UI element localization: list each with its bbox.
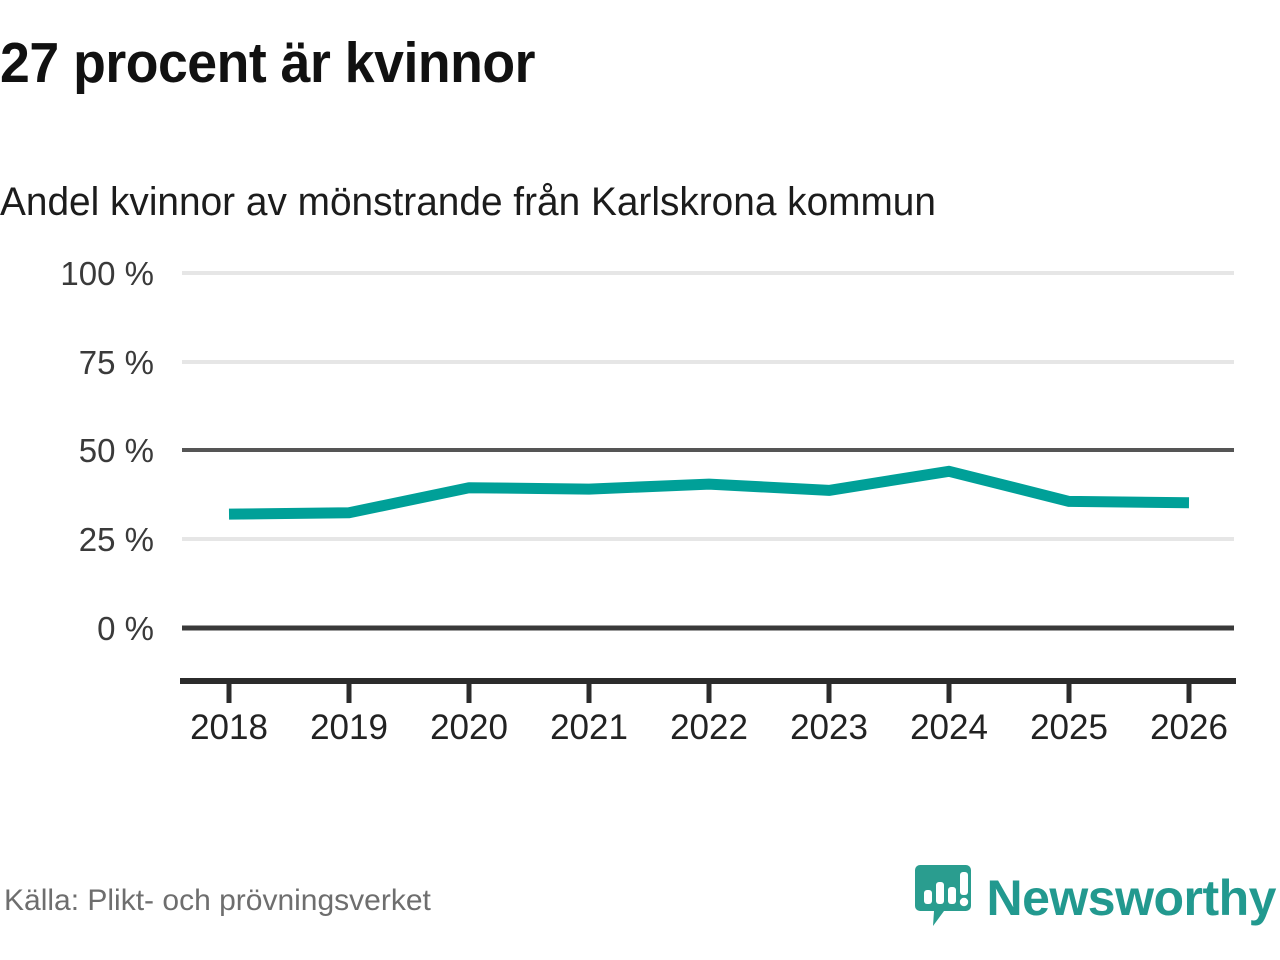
x-tick-label-2019: 2019 — [310, 708, 388, 747]
y-tick-label-50: 50 % — [79, 432, 154, 469]
y-tick-label-25: 25 % — [79, 521, 154, 558]
y-axis-labels: 100 % 75 % 50 % 25 % 0 % — [60, 255, 154, 647]
chart-canvas: 100 % 75 % 50 % 25 % 0 % — [0, 245, 1280, 765]
x-tick-label-2022: 2022 — [670, 708, 748, 747]
x-tick-label-2024: 2024 — [910, 708, 988, 747]
chart-page: 27 procent är kvinnor Andel kvinnor av m… — [0, 0, 1280, 960]
x-tick-label-2018: 2018 — [190, 708, 268, 747]
brand-wordmark: Newsworthy — [986, 873, 1276, 923]
x-tick-label-2025: 2025 — [1030, 708, 1108, 747]
x-tick-label-2020: 2020 — [430, 708, 508, 747]
bar-chart-speech-bubble-icon — [914, 863, 972, 933]
gridlines — [182, 273, 1234, 628]
x-tick-label-2021: 2021 — [550, 708, 628, 747]
x-tick-label-2026: 2026 — [1150, 708, 1228, 747]
x-tick-label-2023: 2023 — [790, 708, 868, 747]
page-title: 27 procent är kvinnor — [0, 32, 1166, 94]
x-axis-labels: 2018 2019 2020 2021 2022 2023 2024 2025 … — [190, 708, 1228, 747]
y-tick-label-0: 0 % — [97, 610, 154, 647]
series-line-andel-kvinnor — [229, 471, 1189, 514]
y-tick-label-75: 75 % — [79, 344, 154, 381]
line-chart: 100 % 75 % 50 % 25 % 0 % — [0, 245, 1280, 765]
chart-subtitle: Andel kvinnor av mönstrande från Karlskr… — [0, 178, 1232, 226]
source-note: Källa: Plikt- och prövningsverket — [4, 884, 431, 918]
x-axis — [180, 681, 1236, 703]
y-tick-label-100: 100 % — [60, 255, 154, 292]
newsworthy-logo: Newsworthy — [914, 862, 1276, 934]
